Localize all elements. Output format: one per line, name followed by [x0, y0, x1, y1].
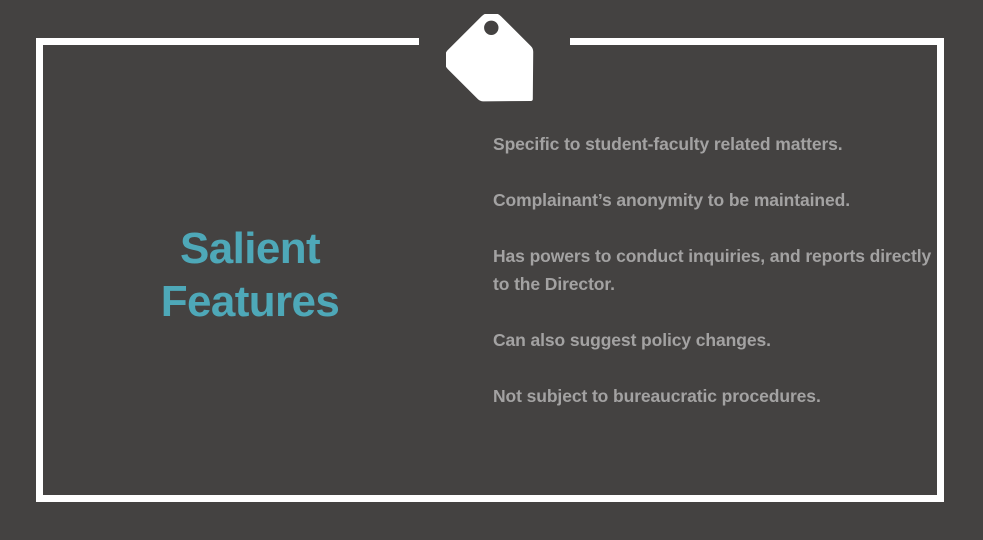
list-item: Complainant’s anonymity to be maintained…: [493, 186, 933, 214]
slide-canvas: Salient Features Specific to student-fac…: [0, 0, 983, 540]
frame-top-right-segment: [570, 38, 944, 45]
frame-right-segment: [937, 38, 944, 502]
features-list: Specific to student-faculty related matt…: [493, 130, 933, 410]
list-item: Specific to student-faculty related matt…: [493, 130, 933, 158]
frame-left-segment: [36, 38, 43, 502]
page-title: Salient Features: [60, 222, 440, 328]
list-item: Not subject to bureaucratic procedures.: [493, 382, 933, 410]
tag-icon: [446, 14, 538, 108]
frame-top-left-segment: [36, 38, 419, 45]
frame-bottom-segment: [36, 495, 944, 502]
list-item: Can also suggest policy changes.: [493, 326, 933, 354]
list-item: Has powers to conduct inquiries, and rep…: [493, 242, 933, 298]
page-title-line-2: Features: [60, 275, 440, 328]
page-title-line-1: Salient: [60, 222, 440, 275]
